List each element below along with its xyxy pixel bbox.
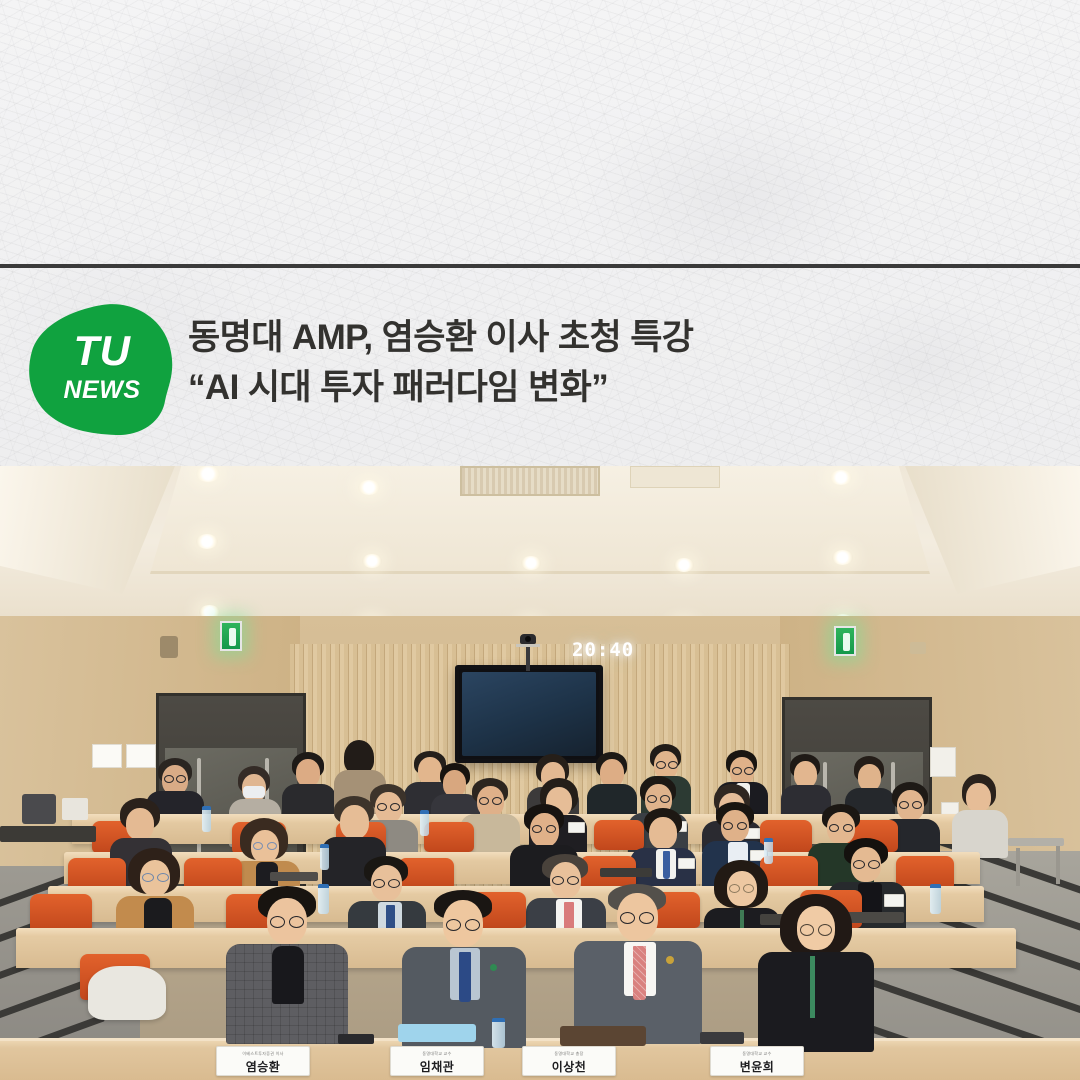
- news-card: TU NEWS 동명대 AMP, 염승환 이사 초청 특강 “AI 시대 투자 …: [0, 0, 1080, 1080]
- stair-railing-base: [1008, 838, 1064, 846]
- logo-text-tu: TU: [28, 330, 176, 372]
- side-counter: [0, 826, 96, 842]
- camera-mount-pole: [526, 647, 530, 671]
- camera-lens-icon: [525, 636, 531, 642]
- notebook: [600, 868, 652, 877]
- nameplate-4: 동명대학교 교수 변윤희: [710, 1046, 804, 1076]
- water-bottle: [492, 1018, 505, 1048]
- paper-cups: [62, 798, 88, 820]
- nameplate-1: 이베스트투자증권 이사 염승환: [216, 1046, 310, 1076]
- ceiling-air-vent: [460, 466, 600, 496]
- stair-railing-post: [1056, 844, 1060, 884]
- water-bottle: [420, 810, 429, 836]
- water-bottle: [764, 838, 773, 864]
- nameplate-name: 임채관: [391, 1058, 483, 1075]
- exit-sign-right: [834, 626, 856, 656]
- stair-railing-post: [1016, 848, 1020, 886]
- nameplate-org: 동명대학교 교수: [391, 1051, 483, 1057]
- wall-display-screen[interactable]: [455, 665, 603, 763]
- ceiling-downlight: [196, 534, 218, 549]
- conference-camera: [516, 634, 540, 648]
- water-bottle: [320, 844, 329, 870]
- ceiling-downlight: [196, 466, 220, 482]
- seat: [30, 894, 92, 932]
- nameplate-2: 동명대학교 교수 임채관: [390, 1046, 484, 1076]
- wall-notice-left-2: [126, 744, 156, 768]
- ceiling-downlight: [358, 480, 380, 495]
- seat: [424, 822, 474, 852]
- draped-coat: [88, 966, 166, 1020]
- logo-text-news: NEWS: [28, 378, 176, 403]
- nameplate-org: 동명대학교 교수: [711, 1051, 803, 1057]
- wall-notice-left: [92, 744, 122, 768]
- water-bottle: [318, 884, 329, 914]
- water-bottle: [202, 806, 211, 832]
- phone: [700, 1032, 744, 1044]
- nameplate-org: 동명대학교 총장: [523, 1051, 615, 1057]
- nameplate-org: 이베스트투자증권 이사: [217, 1051, 309, 1057]
- lecture-hall-photo: 20:40: [0, 466, 1080, 1080]
- ceiling-downlight: [521, 556, 541, 570]
- nameplate-name: 변윤희: [711, 1058, 803, 1075]
- ceiling-access-panel: [630, 466, 720, 488]
- ceiling-downlight: [832, 550, 853, 565]
- nameplate-name: 이상천: [523, 1058, 615, 1075]
- wall-speaker-left: [160, 636, 178, 658]
- display-panel: [462, 672, 596, 756]
- blue-folder: [398, 1024, 476, 1042]
- nameplate-3: 동명대학교 총장 이상천: [522, 1046, 616, 1076]
- exit-sign-left: [220, 621, 242, 651]
- brown-notebook: [560, 1026, 646, 1046]
- nameplate-name: 염승환: [217, 1058, 309, 1075]
- seat: [594, 820, 644, 850]
- wall-speaker-right: [910, 642, 926, 654]
- water-bottle: [930, 884, 941, 914]
- headline-line-2: “AI 시대 투자 패러다임 변화”: [188, 363, 1048, 413]
- coffee-dispenser: [22, 794, 56, 824]
- notebook: [270, 872, 318, 881]
- headline-line-1: 동명대 AMP, 염승환 이사 초청 특강: [188, 313, 1048, 363]
- wall-switch-plate[interactable]: [930, 747, 956, 777]
- headline: 동명대 AMP, 염승환 이사 초청 특강 “AI 시대 투자 패러다임 변화”: [188, 313, 1048, 413]
- phone: [338, 1034, 374, 1044]
- tu-news-logo[interactable]: TU NEWS: [28, 303, 176, 437]
- ceiling-downlight: [830, 470, 852, 485]
- ceiling-downlight: [674, 558, 694, 572]
- ceiling-downlight: [362, 554, 382, 568]
- seat: [896, 856, 954, 890]
- digital-wall-clock: 20:40: [572, 639, 634, 661]
- notebook: [846, 912, 904, 923]
